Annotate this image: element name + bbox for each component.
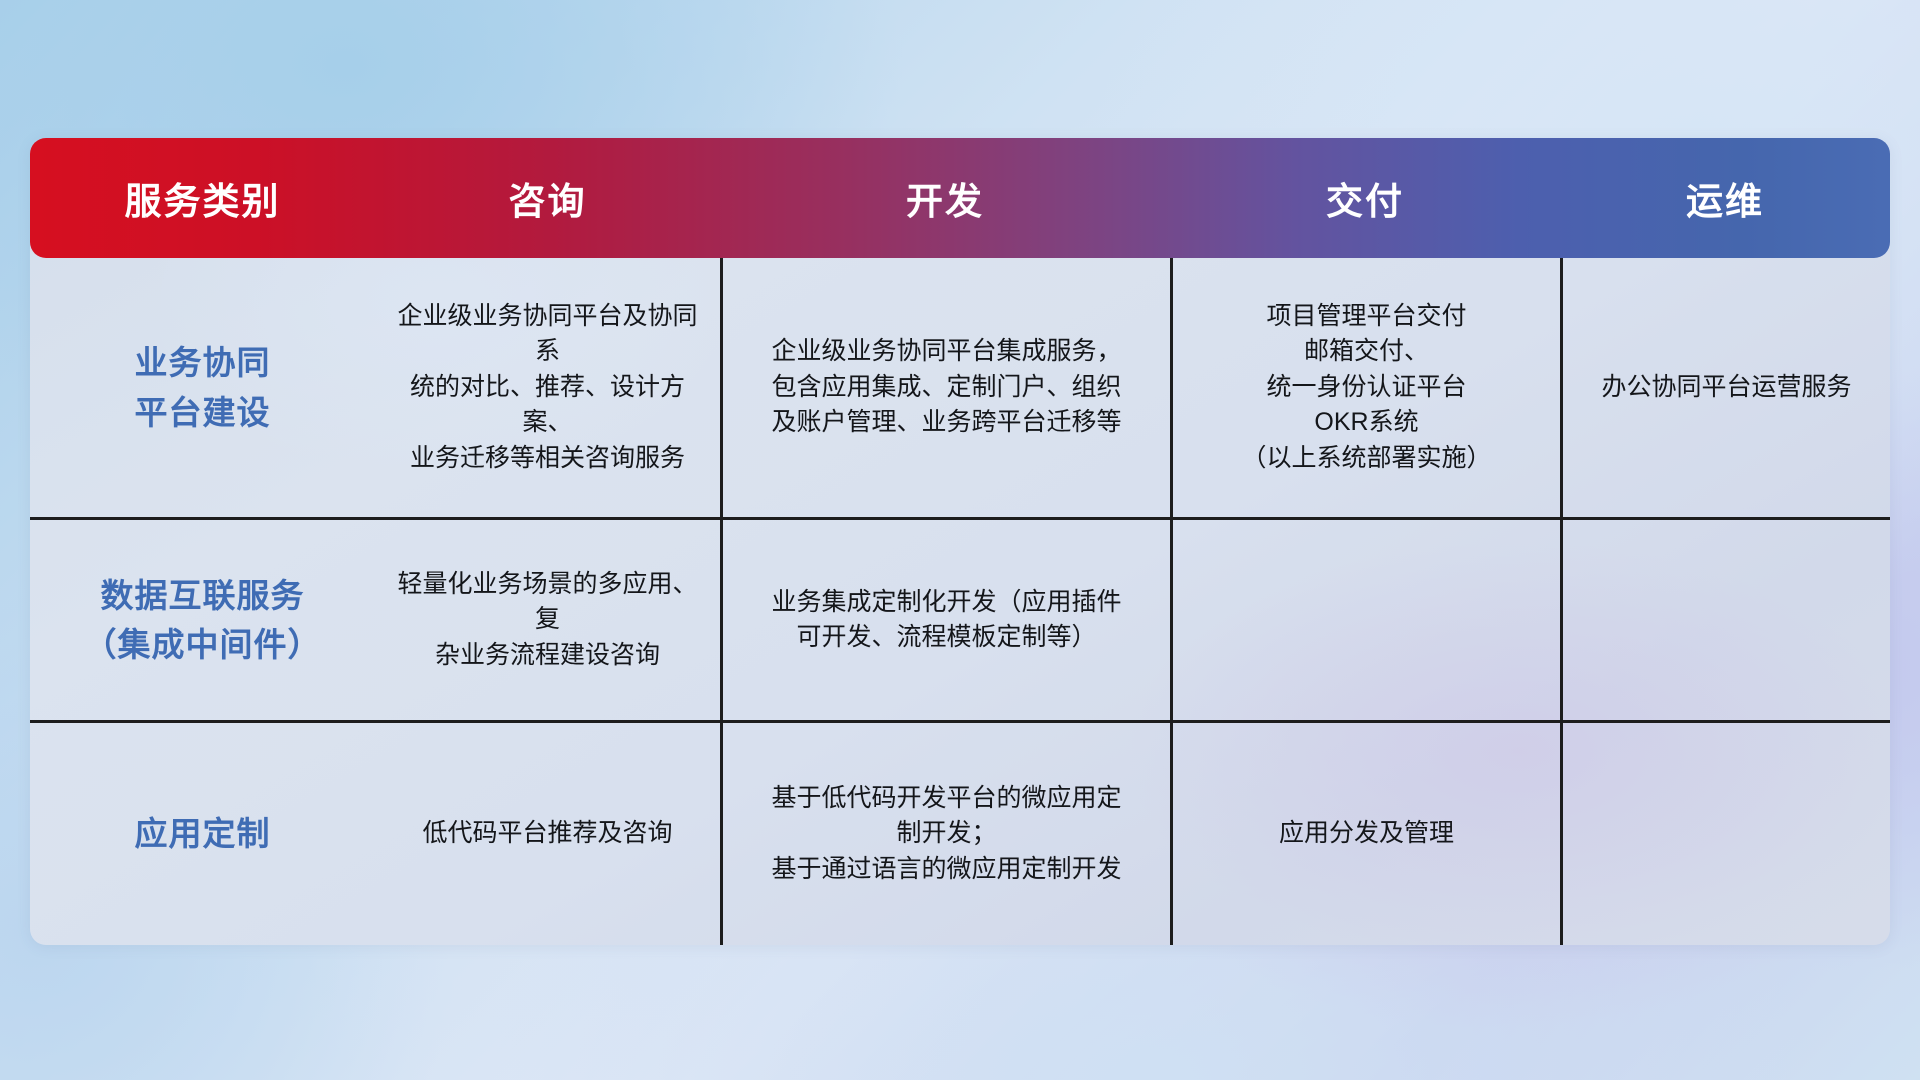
table-body: 业务协同 平台建设 企业级业务协同平台及协同系 统的对比、推荐、设计方案、 业务… <box>30 258 1890 945</box>
table-row: 应用定制 低代码平台推荐及咨询 基于低代码开发平台的微应用定 制开发； 基于通过… <box>30 720 1890 945</box>
column-header-operations: 运维 <box>1560 171 1890 225</box>
cell-r1-delivery <box>1170 520 1560 720</box>
row-label-data-interconnect: 数据互联服务 （集成中间件） <box>30 520 375 720</box>
table-row: 业务协同 平台建设 企业级业务协同平台及协同系 统的对比、推荐、设计方案、 业务… <box>30 258 1890 517</box>
column-header-service-category: 服务类别 <box>30 171 375 225</box>
cell-r2-consulting: 低代码平台推荐及咨询 <box>375 723 720 945</box>
column-header-consulting: 咨询 <box>375 171 720 225</box>
cell-r1-development: 业务集成定制化开发（应用插件 可开发、流程模板定制等） <box>720 520 1170 720</box>
cell-r0-operations: 办公协同平台运营服务 <box>1560 258 1890 517</box>
cell-r0-development: 企业级业务协同平台集成服务， 包含应用集成、定制门户、组织 及账户管理、业务跨平… <box>720 258 1170 517</box>
table-row: 数据互联服务 （集成中间件） 轻量化业务场景的多应用、复 杂业务流程建设咨询 业… <box>30 517 1890 720</box>
cell-r1-consulting: 轻量化业务场景的多应用、复 杂业务流程建设咨询 <box>375 520 720 720</box>
cell-r2-delivery: 应用分发及管理 <box>1170 723 1560 945</box>
cell-r0-consulting: 企业级业务协同平台及协同系 统的对比、推荐、设计方案、 业务迁移等相关咨询服务 <box>375 258 720 517</box>
row-label-app-customization: 应用定制 <box>30 723 375 945</box>
row-label-business-collaboration: 业务协同 平台建设 <box>30 258 375 517</box>
column-header-development: 开发 <box>720 171 1170 225</box>
table-header-row: 服务类别 咨询 开发 交付 运维 <box>30 138 1890 258</box>
cell-r2-development: 基于低代码开发平台的微应用定 制开发； 基于通过语言的微应用定制开发 <box>720 723 1170 945</box>
column-header-delivery: 交付 <box>1170 171 1560 225</box>
cell-r0-delivery: 项目管理平台交付 邮箱交付、 统一身份认证平台 OKR系统 （以上系统部署实施） <box>1170 258 1560 517</box>
cell-r2-operations <box>1560 723 1890 945</box>
cell-r1-operations <box>1560 520 1890 720</box>
